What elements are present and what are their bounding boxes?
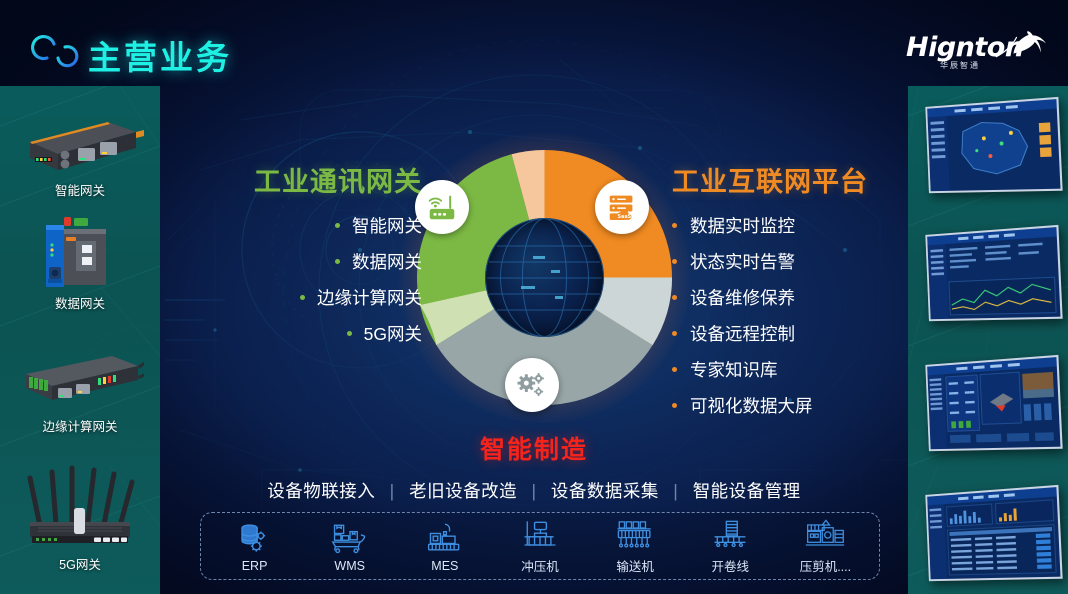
blue-data-gateway-device <box>16 211 144 289</box>
product-card[interactable]: 数据网关 <box>0 211 160 312</box>
strip-item-uncoiling-line[interactable]: 开卷线 <box>686 517 774 575</box>
list-item[interactable]: 设备维修保养 <box>672 285 934 310</box>
system-icon-strip: ERP WMS <box>200 512 880 580</box>
product-label: 边缘计算网关 <box>0 416 160 435</box>
list-item[interactable]: 专家知识库 <box>672 357 934 382</box>
tag-separator: | <box>390 481 395 501</box>
tag-label: 老旧设备改造 <box>409 481 517 501</box>
bullet-label: 智能网关 <box>352 213 422 238</box>
right-column-bullets: 数据实时监控 状态实时告警 设备维修保养 设备远程控制 专家知识库 可视化数据大… <box>672 213 934 418</box>
product-label: 5G网关 <box>0 554 160 573</box>
strip-item-conveyor[interactable]: 输送机 <box>591 517 679 575</box>
shearing-machine-icon <box>781 517 869 553</box>
stamping-press-icon <box>496 517 584 553</box>
product-card[interactable]: 边缘计算网关 <box>0 334 160 435</box>
strip-item-erp[interactable]: ERP <box>211 520 299 573</box>
tag-separator: | <box>531 481 536 501</box>
china-map-monitoring-dashboard[interactable] <box>925 97 1062 193</box>
brand-logo: Hignton 华辰智通 <box>904 18 1054 76</box>
strip-item-shearing-machine[interactable]: 压剪机.... <box>781 517 869 575</box>
strip-label: 压剪机.... <box>781 556 869 575</box>
product-label: 数据网关 <box>0 293 160 312</box>
product-card[interactable]: 智能网关 <box>0 98 160 199</box>
strip-label: WMS <box>306 559 394 573</box>
bullet-label: 设备远程控制 <box>690 321 795 346</box>
bullet-dot-icon <box>335 223 340 228</box>
bullet-dot-icon <box>335 259 340 264</box>
donut-center-globe <box>485 218 604 337</box>
brand-wordmark: Hignton <box>906 32 1024 63</box>
equipment-3d-monitor-dashboard[interactable] <box>925 355 1062 451</box>
bullet-dot-icon <box>672 223 677 228</box>
bullet-dot-icon <box>672 295 677 300</box>
list-item[interactable]: 数据实时监控 <box>672 213 934 238</box>
left-column-bullets: 智能网关 数据网关 边缘计算网关 5G网关 <box>172 213 422 346</box>
strip-label: 冲压机 <box>496 556 584 575</box>
device-data-trend-dashboard[interactable] <box>925 225 1062 321</box>
list-item[interactable]: 可视化数据大屏 <box>672 393 934 418</box>
strip-label: 开卷线 <box>686 556 774 575</box>
5g-router-six-antennas-device <box>16 456 144 552</box>
strip-label: MES <box>401 559 489 573</box>
left-feature-column: 工业通讯网关 智能网关 数据网关 边缘计算网关 5G网关 <box>172 160 422 357</box>
uncoiling-line-icon <box>686 517 774 553</box>
tag-separator: | <box>673 481 678 501</box>
right-column-heading: 工业互联网平台 <box>672 160 934 199</box>
bullet-dot-icon <box>672 403 677 408</box>
bullet-label: 5G网关 <box>364 321 422 346</box>
industrial-smart-gateway-device <box>16 98 144 176</box>
gateway-router-wifi-icon[interactable] <box>415 180 469 234</box>
warehouse-cart-icon <box>306 520 394 556</box>
list-item[interactable]: 状态实时告警 <box>672 249 934 274</box>
tag-label: 智能设备管理 <box>693 481 801 501</box>
bullet-dot-icon <box>672 259 677 264</box>
list-item[interactable]: 数据网关 <box>172 249 422 274</box>
conveyor-icon <box>591 517 679 553</box>
business-donut-chart: SaaS <box>417 150 672 405</box>
bullet-dot-icon <box>300 295 305 300</box>
right-feature-column: 工业互联网平台 数据实时监控 状态实时告警 设备维修保养 设备远程控制 专家知识… <box>672 160 934 429</box>
bullet-label: 边缘计算网关 <box>317 285 422 310</box>
left-column-heading: 工业通讯网关 <box>172 160 422 199</box>
product-label: 智能网关 <box>0 180 160 199</box>
slide-root: 主营业务 Hignton 华辰智通 <box>0 0 1068 594</box>
strip-label: 输送机 <box>591 556 679 575</box>
bullet-dot-icon <box>672 331 677 336</box>
svg-text:SaaS: SaaS <box>618 214 632 220</box>
saas-server-cloud-icon[interactable]: SaaS <box>595 180 649 234</box>
left-sidebar: 智能网关 <box>0 86 160 594</box>
strip-item-mes[interactable]: MES <box>401 520 489 573</box>
strip-item-wms[interactable]: WMS <box>306 520 394 573</box>
list-item[interactable]: 边缘计算网关 <box>172 285 422 310</box>
two-interlocking-circles-icon <box>28 27 84 75</box>
page-title: 主营业务 <box>88 31 232 79</box>
list-item[interactable]: 5G网关 <box>172 321 422 346</box>
strip-item-stamping-press[interactable]: 冲压机 <box>496 517 584 575</box>
tag-label: 设备数据采集 <box>551 481 659 501</box>
slide-header: 主营业务 Hignton 华辰智通 <box>0 0 1068 86</box>
bullet-label: 数据实时监控 <box>690 213 795 238</box>
bullet-label: 专家知识库 <box>690 357 778 382</box>
brand-chinese-name: 华辰智通 <box>940 60 980 71</box>
bullet-dot-icon <box>672 367 677 372</box>
data-table-report-dashboard[interactable] <box>925 485 1062 581</box>
bullet-dot-icon <box>347 331 352 336</box>
bullet-label: 可视化数据大屏 <box>690 393 813 418</box>
strip-label: ERP <box>211 559 299 573</box>
product-card[interactable]: 5G网关 <box>0 456 160 573</box>
production-line-icon <box>401 520 489 556</box>
bullet-label: 状态实时告警 <box>690 249 795 274</box>
right-sidebar <box>908 86 1068 594</box>
edge-computing-gateway-device <box>16 334 144 412</box>
tag-label: 设备物联接入 <box>267 481 375 501</box>
bullet-label: 设备维修保养 <box>690 285 795 310</box>
bullet-label: 数据网关 <box>352 249 422 274</box>
list-item[interactable]: 智能网关 <box>172 213 422 238</box>
database-gears-icon <box>211 520 299 556</box>
list-item[interactable]: 设备远程控制 <box>672 321 934 346</box>
gears-icon[interactable] <box>505 358 559 412</box>
